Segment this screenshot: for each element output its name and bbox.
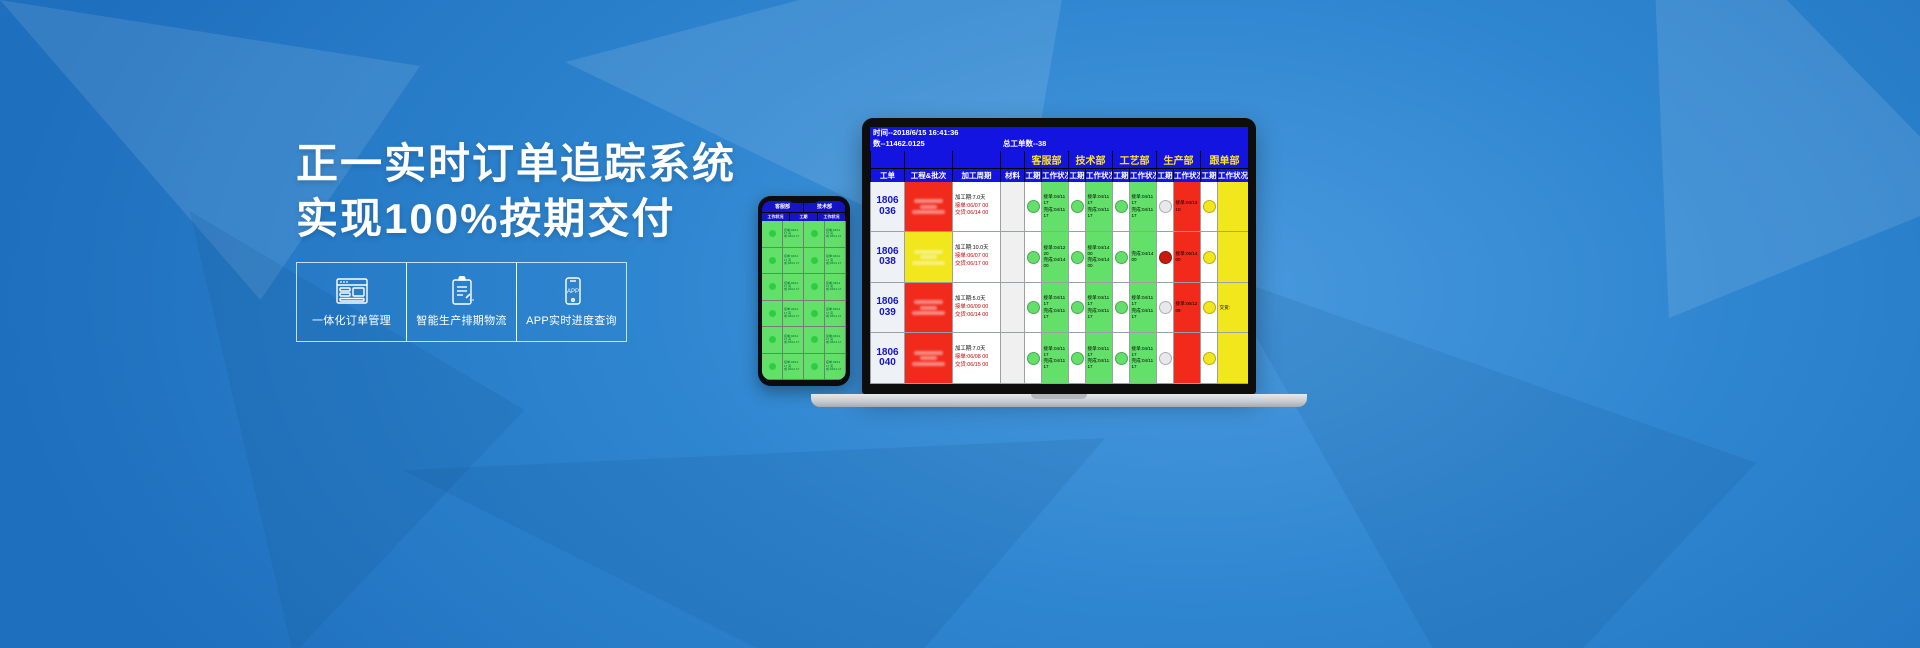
info-count: 数--11462.0125 [873,139,1003,150]
cell-material [1000,232,1024,283]
column-material: 材料 [1000,168,1024,182]
feature-item-order-management[interactable]: 一体化订单管理 [296,262,407,342]
status-dot-icon [769,310,776,317]
laptop-base [811,394,1307,407]
cell-work-status[interactable]: 接单:04/12 20完成:04/14 00 [1041,232,1068,283]
feature-list: 一体化订单管理 智能生产排期物流 APP AP [296,262,626,342]
phone-column-dots-a [762,221,783,380]
cell-duration-indicator[interactable] [1156,283,1173,334]
cell-status-text: 完成:04/14 00 [1130,251,1156,263]
cell-duration-indicator[interactable] [1200,333,1217,384]
cell-status-text: 接单:06/12 09 [1174,301,1200,313]
phone-cell[interactable] [762,354,782,381]
phone-column-1: 工期 [790,212,818,221]
phone-column-status-a: 接单:04/11 17 完成:04/11 17 接单:04/11 17 完成:0… [783,221,804,380]
cell-material [1000,283,1024,334]
phone-cell[interactable]: 接单:04/11 17 完成:04/11 17 [783,301,803,328]
cell-status-text: 接单:04/12 20完成:04/14 00 [1042,245,1068,270]
cell-work-status[interactable]: 接单:04/11 17完成:04/11 17 [1041,182,1068,233]
cell-project-batch [904,283,952,334]
phone-cell-text: 接单:04/11 17 完成:04/11 17 [783,254,803,266]
column-fu-status: 工作状况 [1217,168,1248,182]
department-production: 生产部 [1156,151,1200,168]
page-title: 正一实时订单追踪系统 实现100%按期交付 [296,136,816,247]
cell-work-status[interactable]: 接单:04/11 17完成:04/11 17 [1129,182,1156,233]
cell-status-text: 接单:04/11 17完成:04/11 17 [1130,194,1156,219]
cell-duration-indicator[interactable] [1024,232,1041,283]
status-dot-icon [1071,251,1084,264]
status-dot-icon [1203,251,1216,264]
phone-cell[interactable]: 接单:04/11 17 完成:04/11 17 [783,221,803,248]
department-process: 工艺部 [1112,151,1156,168]
phone-cell-text: 接单:04/11 17 完成:04/11 17 [825,334,845,346]
status-dot-icon [1203,200,1216,213]
phone-mockup: 客服部 技术部 工作状况 工期 工作状况 接单:04/11 17 完成:04/1… [758,196,850,386]
laptop-trackpad-notch [1031,394,1087,399]
status-dot-icon [1071,301,1084,314]
cell-status-text: 接单:04/11 17完成:04/11 17 [1130,346,1156,371]
feature-item-app-query[interactable]: APP APP实时进度查询 [516,262,627,342]
feature-label-app-query: APP实时进度查询 [526,312,617,328]
cell-duration-indicator[interactable] [1068,333,1085,384]
table-row[interactable]: 1806038加工期:10.0天接单:06/07 00交货:06/17 00接单… [870,232,1248,283]
cell-status-text: 接单:04/11 17完成:04/11 17 [1086,295,1112,320]
phone-cell[interactable] [762,327,782,354]
phone-cell[interactable]: 接单:04/11 17 完成:04/11 17 [825,327,845,354]
cell-duration-indicator[interactable] [1112,333,1129,384]
dept-spacer-period: . [952,151,1000,168]
order-management-icon [335,276,369,306]
cell-order-number: 1806036 [870,182,904,233]
cell-duration-indicator[interactable] [1024,333,1041,384]
cell-material [1000,182,1024,233]
phone-cell[interactable] [762,301,782,328]
laptop-screen[interactable]: 时间--2018/6/15 16:41:36 数--11462.0125 总工单… [870,127,1248,384]
cell-duration-indicator[interactable] [1112,283,1129,334]
phone-cell-text: 接单:04/11 17 完成:04/11 17 [825,307,845,319]
feature-label-production-schedule: 智能生产排期物流 [416,312,506,328]
mobile-app-icon: APP [555,276,589,306]
cell-status-text: 接单:04/11 17完成:04/11 17 [1086,194,1112,219]
status-dot-icon [769,230,776,237]
status-dot-icon [1159,251,1172,264]
cell-work-status[interactable]: 接单:04/11 17完成:04/11 17 [1041,283,1068,334]
phone-cell[interactable]: 接单:04/11 17 完成:04/11 17 [825,221,845,248]
cell-work-status[interactable]: 接单:06/12 09 [1173,283,1200,334]
cell-duration-indicator[interactable] [1068,232,1085,283]
column-project: 工程&批次 [904,168,952,182]
column-header-row: 工单 工程&批次 加工周期 材料 工期 工作状况 工期 工作状况 工期 工作状况… [870,168,1248,182]
phone-cell-text: 接单:04/11 17 完成:04/11 17 [825,228,845,240]
status-dot-icon [811,257,818,264]
column-cs-duration: 工期 [1024,168,1041,182]
cell-processing-period: 加工期:10.0天接单:06/07 00交货:06/17 00 [952,232,1000,283]
headline-line-1: 正一实时订单追踪系统 [296,140,736,187]
phone-cell[interactable] [804,274,824,301]
cell-project-batch [904,333,952,384]
column-prod-duration: 工期 [1156,168,1173,182]
department-header-row: . . . . 客服部 技术部 工艺部 生产部 跟单部 [870,151,1248,168]
cell-status-text: 接单:04/11 17完成:04/11 17 [1042,346,1068,371]
cell-status-text: 接单:04/11 17完成:04/11 17 [1086,346,1112,371]
cell-duration-indicator[interactable] [1156,182,1173,233]
status-dot-icon [1027,301,1040,314]
cell-work-status[interactable]: 接单:04/11 17完成:04/11 17 [1041,333,1068,384]
cell-work-status[interactable]: 接单:04/11 17完成:04/11 17 [1085,333,1112,384]
cell-duration-indicator[interactable] [1156,333,1173,384]
phone-cell[interactable]: 接单:04/11 17 完成:04/11 17 [783,274,803,301]
cell-status-text: 接单:06/14 00 [1174,251,1200,263]
phone-column-2: 工作状况 [818,212,846,221]
cell-duration-indicator[interactable] [1112,182,1129,233]
status-dot-icon [811,363,818,370]
status-dot-icon [811,230,818,237]
cell-duration-indicator[interactable] [1200,182,1217,233]
status-dot-icon [811,310,818,317]
status-dot-icon [1027,251,1040,264]
dept-spacer-material: . [1000,151,1024,168]
cell-status-text: 接单:04/11 17完成:04/11 17 [1042,194,1068,219]
phone-cell[interactable]: 接单:04/11 17 完成:04/11 17 [825,274,845,301]
column-proc-status: 工作状况 [1129,168,1156,182]
phone-column-row: 工作状况 工期 工作状况 [762,212,846,221]
cell-duration-indicator[interactable] [1024,283,1041,334]
dashboard-info-bar: 时间--2018/6/15 16:41:36 数--11462.0125 总工单… [870,127,1248,151]
phone-cell[interactable]: 接单:04/11 17 完成:04/11 17 [783,327,803,354]
phone-cell[interactable]: 接单:04/11 17 完成:04/11 17 [783,248,803,275]
table-row[interactable]: 1806040加工期:7.0天接单:06/08 00交货:06/15 00接单:… [870,333,1248,384]
cell-work-status[interactable]: 接单:04/11 17完成:04/11 17 [1129,283,1156,334]
cell-material [1000,333,1024,384]
phone-cell[interactable] [804,327,824,354]
status-dot-icon [1115,200,1128,213]
column-tech-status: 工作状况 [1085,168,1112,182]
feature-label-order-management: 一体化订单管理 [312,312,391,328]
status-dot-icon [1159,352,1172,365]
phone-cell-text: 接单:04/11 17 完成:04/11 17 [783,228,803,240]
cell-work-status[interactable]: 完成:04/14 00 [1129,232,1156,283]
phone-cell-text: 接单:04/11 17 完成:04/11 17 [783,360,803,372]
cell-work-status[interactable]: 接单:04/11 17完成:04/11 17 [1085,182,1112,233]
phone-cell[interactable] [762,248,782,275]
phone-cell[interactable] [762,221,782,248]
cell-processing-period: 加工期:7.0天接单:06/08 00交货:06/15 00 [952,333,1000,384]
cell-work-status[interactable]: 接单:06/14 00 [1173,232,1200,283]
phone-cell[interactable] [762,274,782,301]
phone-cell-text: 接单:04/11 17 完成:04/11 17 [783,307,803,319]
status-dot-icon [1159,301,1172,314]
cell-work-status[interactable] [1217,333,1248,384]
order-table-body: 1806036加工期:7.0天接单:06/07 00交货:06/14 00接单:… [870,182,1248,384]
cell-duration-indicator[interactable] [1112,232,1129,283]
cell-status-text: 接单:04/14 00完成:04/14 00 [1086,245,1112,270]
table-row[interactable]: 1806036加工期:7.0天接单:06/07 00交货:06/14 00接单:… [870,182,1248,233]
status-dot-icon [811,336,818,343]
cell-duration-indicator[interactable] [1068,182,1085,233]
column-proc-duration: 工期 [1112,168,1129,182]
status-dot-icon [769,363,776,370]
phone-cell-text: 接单:04/11 17 完成:04/11 17 [825,360,845,372]
status-dot-icon [769,283,776,290]
cell-work-status[interactable]: 接单:04/14 00完成:04/14 00 [1085,232,1112,283]
cell-work-status[interactable]: 接单:04/13 10 [1173,182,1200,233]
phone-column-status-b: 接单:04/11 17 完成:04/11 17 接单:04/11 17 完成:0… [825,221,846,380]
column-fu-duration: 工期 [1200,168,1217,182]
phone-cell[interactable] [804,301,824,328]
clipboard-schedule-icon [445,276,479,306]
phone-cell[interactable] [804,354,824,381]
headline-line-2: 实现100%按期交付 [296,191,816,246]
phone-cell[interactable]: 接单:04/11 17 完成:04/11 17 [825,301,845,328]
cell-work-status[interactable] [1217,232,1248,283]
phone-cell-text: 接单:04/11 17 完成:04/11 17 [783,334,803,346]
feature-item-production-schedule[interactable]: 智能生产排期物流 [406,262,517,342]
info-total-orders: 总工单数--38 [1003,139,1046,150]
cell-processing-period: 加工期:7.0天接单:06/07 00交货:06/14 00 [952,182,1000,233]
phone-cell[interactable]: 接单:04/11 17 完成:04/11 17 [825,248,845,275]
phone-cell[interactable]: 接单:04/11 17 完成:04/11 17 [825,354,845,381]
column-order: 工单 [870,168,904,182]
status-dot-icon [1159,200,1172,213]
phone-cell-text: 接单:04/11 17 完成:04/11 17 [825,281,845,293]
cell-processing-period: 加工期:5.0天接单:06/09 00交货:06/14 00 [952,283,1000,334]
department-followup: 跟单部 [1200,151,1248,168]
phone-column-0: 工作状况 [762,212,790,221]
cell-order-number: 1806038 [870,232,904,283]
column-tech-duration: 工期 [1068,168,1085,182]
phone-column-dots-b [804,221,825,380]
phone-cell-text: 接单:04/11 17 完成:04/11 17 [783,281,803,293]
cell-duration-indicator[interactable] [1200,232,1217,283]
phone-cell[interactable] [804,248,824,275]
cell-status-text: 接单:04/11 17完成:04/11 17 [1130,295,1156,320]
status-dot-icon [1071,352,1084,365]
status-dot-icon [1115,352,1128,365]
cell-work-status[interactable]: 交货: [1217,283,1248,334]
cell-status-text: 交货: [1218,305,1248,311]
phone-table-body: 接单:04/11 17 完成:04/11 17 接单:04/11 17 完成:0… [762,221,846,380]
cell-work-status[interactable]: 接单:04/11 17完成:04/11 17 [1129,333,1156,384]
cell-order-number: 1806039 [870,283,904,334]
cell-status-text: 接单:04/13 10 [1174,200,1200,212]
dept-spacer-project: . [904,151,952,168]
phone-notch [789,198,819,203]
info-time: 时间--2018/6/15 16:41:36 [873,128,1003,139]
laptop-lid: 时间--2018/6/15 16:41:36 数--11462.0125 总工单… [862,118,1256,394]
cell-project-batch [904,232,952,283]
status-dot-icon [1203,352,1216,365]
phone-cell[interactable] [804,221,824,248]
status-dot-icon [811,283,818,290]
cell-duration-indicator[interactable] [1024,182,1041,233]
department-customer-service: 客服部 [1024,151,1068,168]
department-technical: 技术部 [1068,151,1112,168]
status-dot-icon [1115,301,1128,314]
cell-work-status[interactable] [1217,182,1248,233]
svg-text:APP: APP [566,289,578,295]
phone-cell-text: 接单:04/11 17 完成:04/11 17 [825,254,845,266]
cell-status-text: 接单:04/11 17完成:04/11 17 [1042,295,1068,320]
cell-order-number: 1806040 [870,333,904,384]
status-dot-icon [1203,301,1216,314]
status-dot-icon [1071,200,1084,213]
table-row[interactable]: 1806039加工期:5.0天接单:06/09 00交货:06/14 00接单:… [870,283,1248,334]
status-dot-icon [1027,352,1040,365]
laptop-mockup: 时间--2018/6/15 16:41:36 数--11462.0125 总工单… [862,118,1307,407]
cell-duration-indicator[interactable] [1156,232,1173,283]
column-prod-status: 工作状况 [1173,168,1200,182]
column-cs-status: 工作状况 [1041,168,1068,182]
status-dot-icon [769,336,776,343]
dept-spacer-order: . [870,151,904,168]
cell-work-status[interactable]: 接单:04/11 17完成:04/11 17 [1085,283,1112,334]
cell-duration-indicator[interactable] [1068,283,1085,334]
column-period: 加工周期 [952,168,1000,182]
status-dot-icon [1027,200,1040,213]
cell-work-status[interactable] [1173,333,1200,384]
cell-duration-indicator[interactable] [1200,283,1217,334]
phone-cell[interactable]: 接单:04/11 17 完成:04/11 17 [783,354,803,381]
status-dot-icon [769,257,776,264]
status-dot-icon [1115,251,1128,264]
cell-project-batch [904,182,952,233]
phone-screen[interactable]: 客服部 技术部 工作状况 工期 工作状况 接单:04/11 17 完成:04/1… [762,201,846,380]
